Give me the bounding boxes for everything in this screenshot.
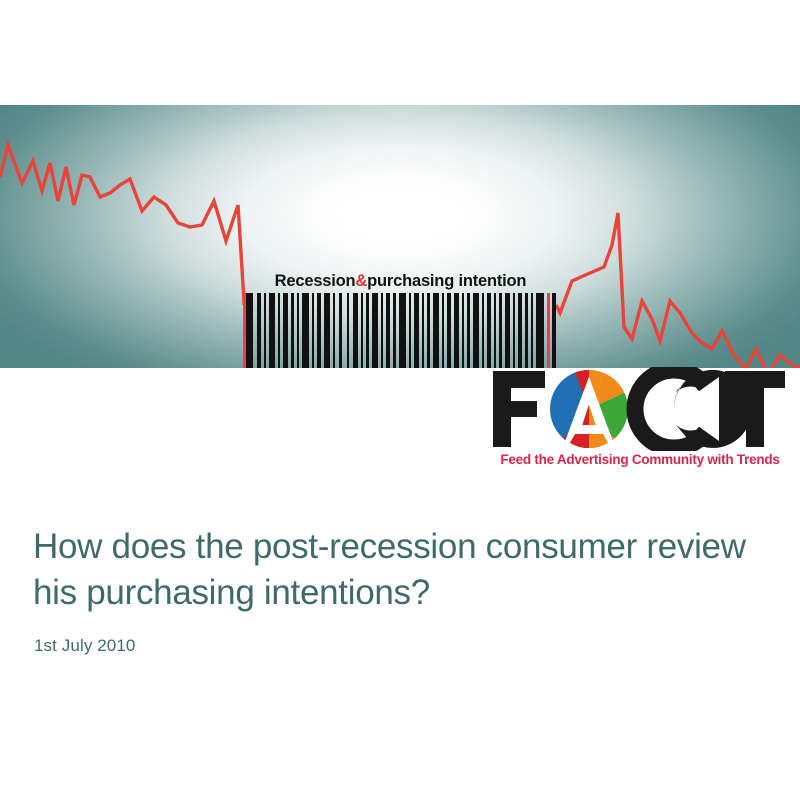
barcode-caption-after: purchasing intention [367, 272, 526, 291]
slide-date: 1st July 2010 [34, 636, 753, 656]
logo-letter-a-circle [550, 370, 628, 450]
chart-series-right [556, 213, 800, 368]
barcode-graphic: Recession & purchasing intention [243, 265, 558, 368]
title-block: How does the post-recession consumer rev… [33, 524, 753, 656]
logo-letter-f [493, 371, 545, 447]
chart-series-left [0, 145, 238, 241]
fact-tagline: Feed the Advertising Community with Tren… [491, 452, 789, 467]
page-title: How does the post-recession consumer rev… [33, 524, 753, 616]
fact-logo: Feed the Advertising Community with Tren… [489, 367, 789, 477]
hero-banner-image: Recession & purchasing intention [0, 105, 800, 368]
fact-wordmark [489, 367, 789, 451]
barcode-bars [243, 293, 558, 368]
barcode-caption-ampersand: & [355, 272, 367, 291]
presentation-slide: Recession & purchasing intention [0, 0, 800, 800]
barcode-caption-before: Recession [275, 272, 356, 291]
